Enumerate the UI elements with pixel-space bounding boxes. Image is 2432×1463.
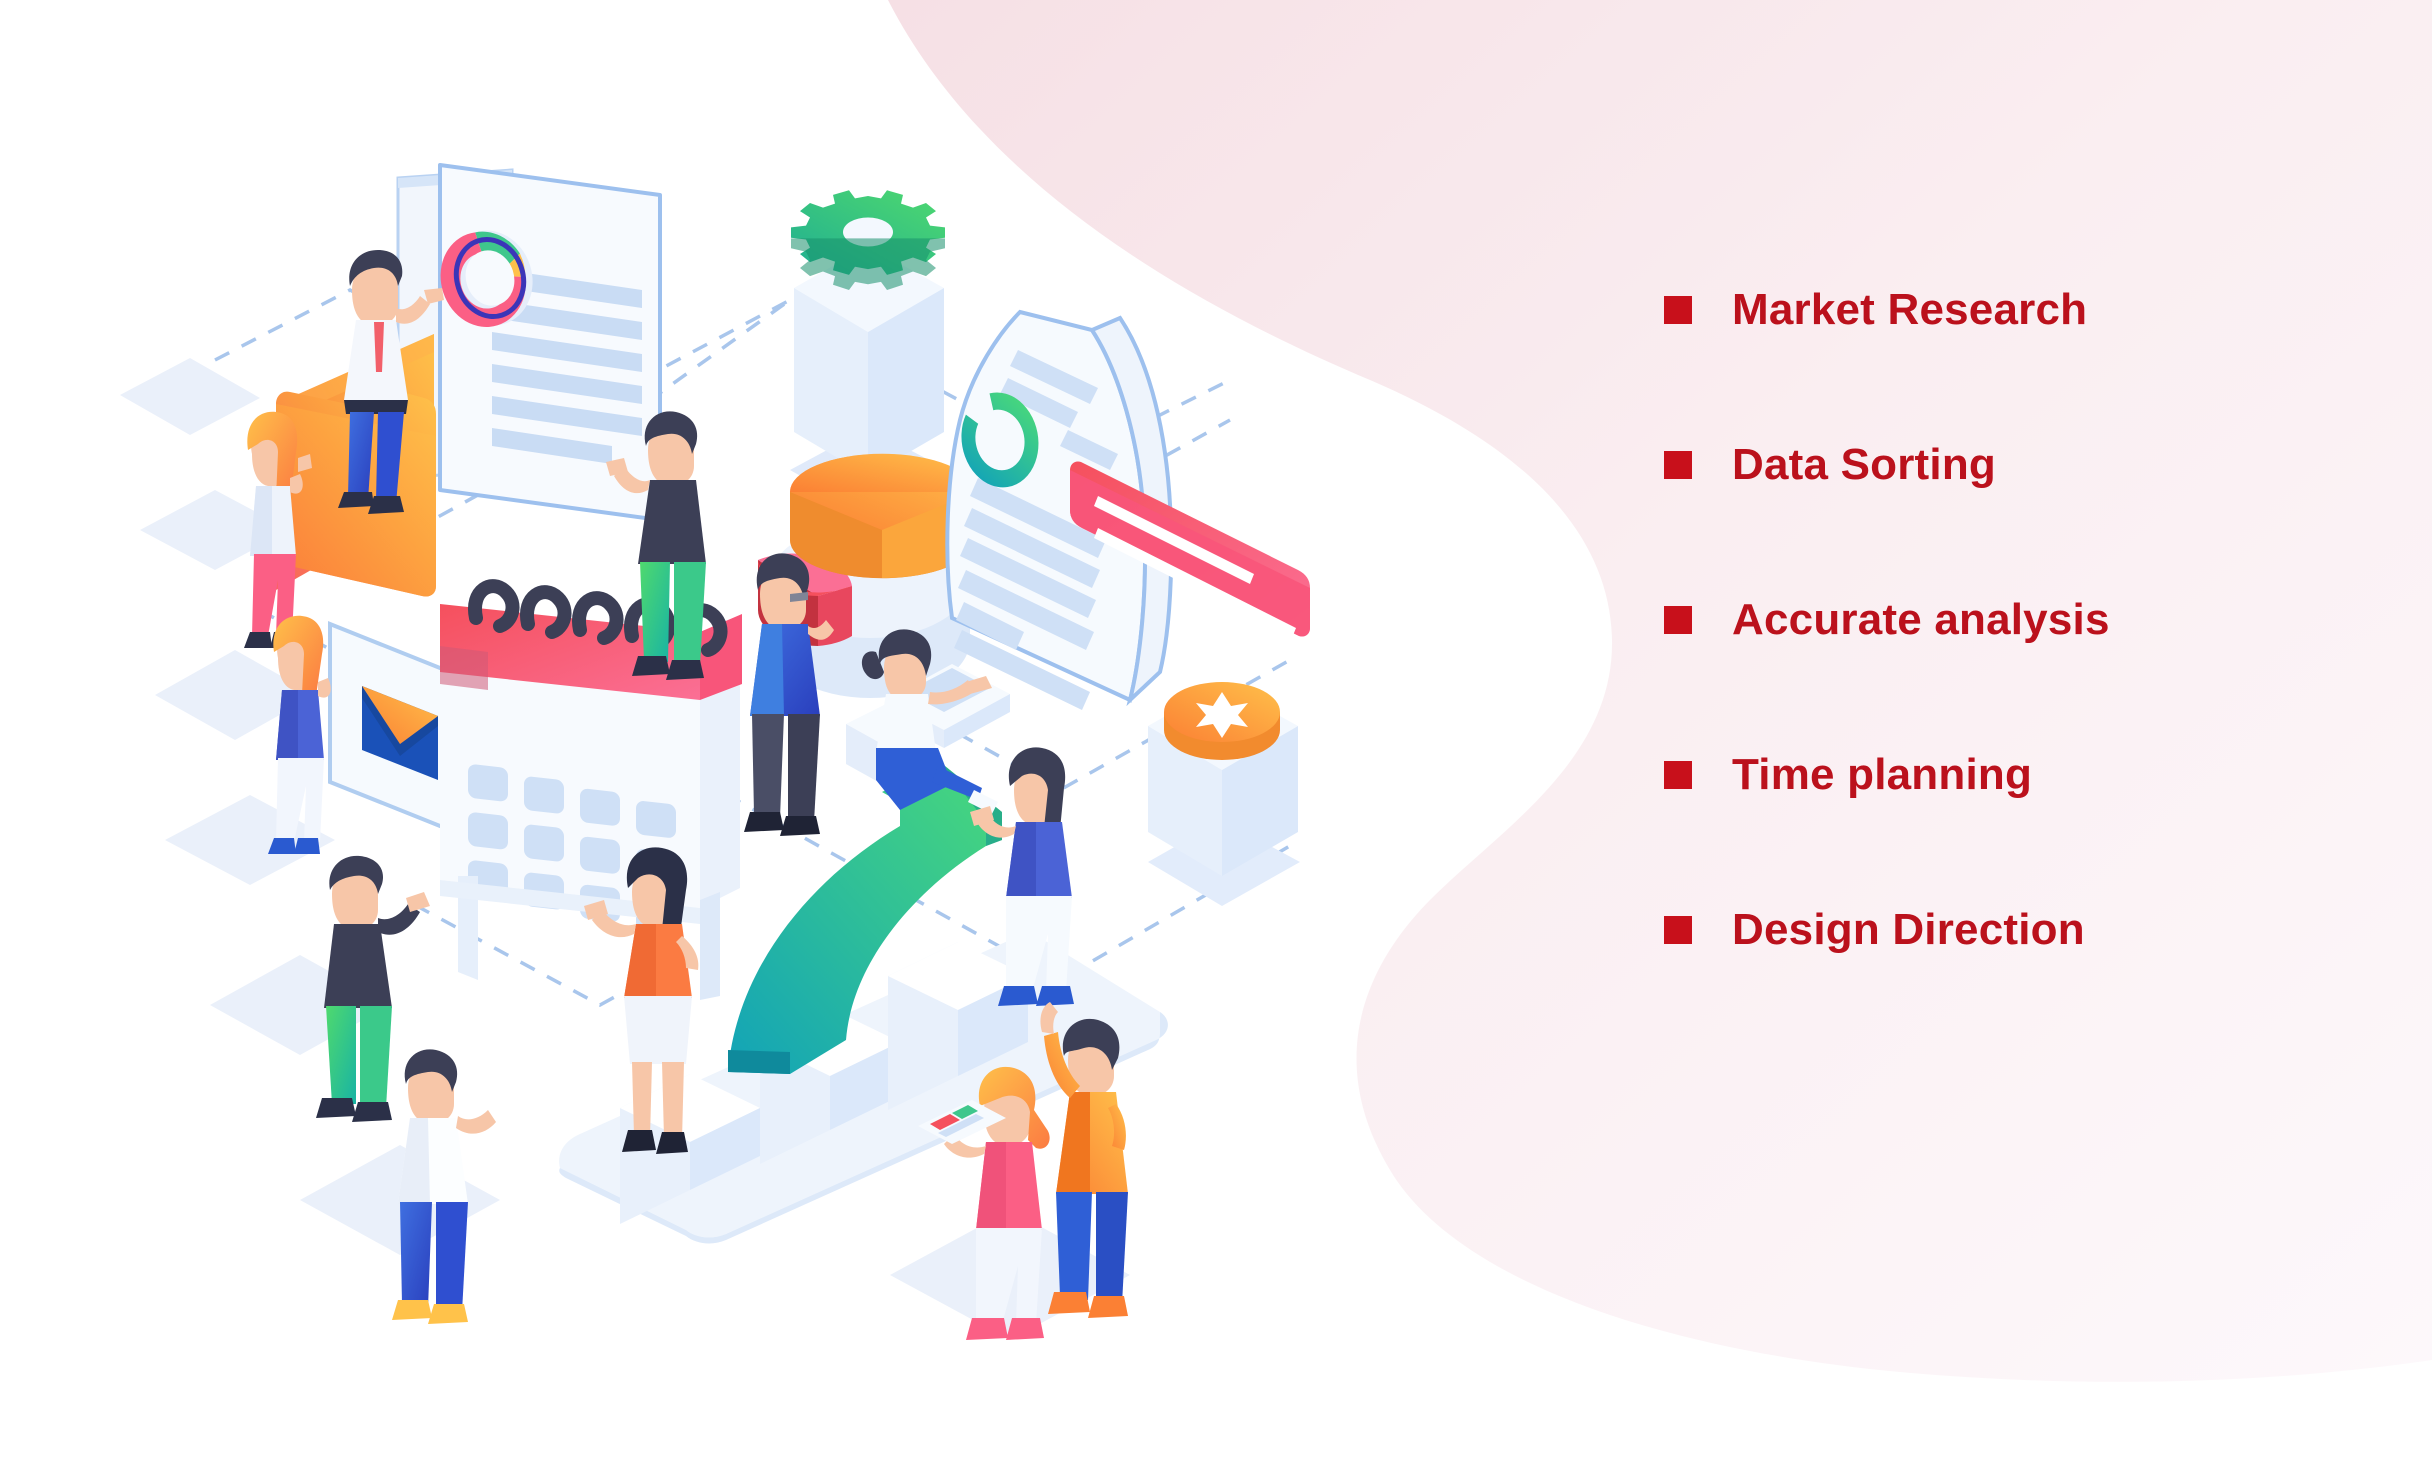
feature-list: Market Research Data Sorting Accurate an… [1664, 282, 2384, 958]
feature-label: Design Direction [1732, 908, 2085, 952]
square-bullet-icon [1664, 761, 1692, 789]
square-bullet-icon [1664, 606, 1692, 634]
star-badge-on-cube [1148, 682, 1300, 906]
feature-item-data-sorting[interactable]: Data Sorting [1664, 437, 2384, 493]
gear-icon [791, 190, 945, 290]
isometric-illustration [0, 0, 1500, 1463]
feature-label: Accurate analysis [1732, 598, 2110, 642]
feature-label: Data Sorting [1732, 443, 1996, 487]
square-bullet-icon [1664, 451, 1692, 479]
square-bullet-icon [1664, 916, 1692, 944]
feature-item-market-research[interactable]: Market Research [1664, 282, 2384, 338]
feature-label: Market Research [1732, 288, 2087, 332]
person-man-white-shirt-yellow-shoes [392, 1049, 496, 1324]
feature-item-accurate-analysis[interactable]: Accurate analysis [1664, 592, 2384, 648]
square-bullet-icon [1664, 296, 1692, 324]
slide-canvas: Market Research Data Sorting Accurate an… [0, 0, 2432, 1463]
star-badge-icon [1164, 682, 1280, 760]
feature-label: Time planning [1732, 753, 2032, 797]
person-woman-blue-top-white-pants [268, 616, 331, 854]
feature-item-design-direction[interactable]: Design Direction [1664, 902, 2384, 958]
feature-item-time-planning[interactable]: Time planning [1664, 747, 2384, 803]
